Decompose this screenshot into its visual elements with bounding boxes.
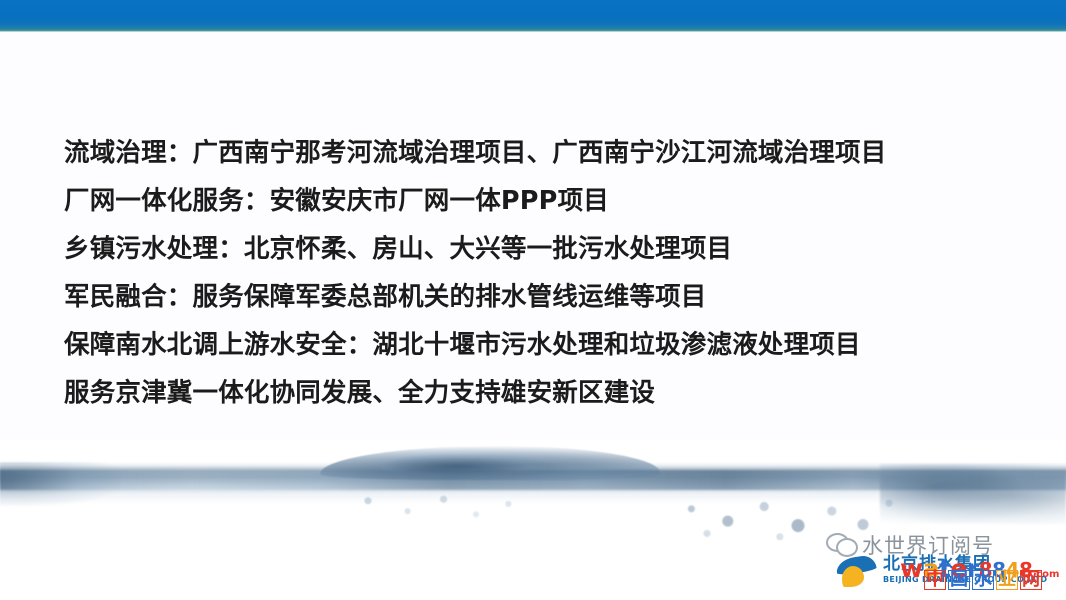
water-spray-right bbox=[880, 464, 1066, 524]
cn-water-char-5: 网 bbox=[1020, 570, 1042, 590]
water8848-letter-w: w bbox=[900, 554, 923, 583]
body-line-4: 军民融合：服务保障军委总部机关的排水管线运维等项目 bbox=[64, 273, 1024, 321]
water-bubbles-left bbox=[350, 492, 530, 532]
body-line-1: 流域治理：广西南宁那考河流域治理项目、广西南宁沙江河流域治理项目 bbox=[64, 129, 1024, 177]
cn-water-char-3: 水 bbox=[972, 570, 994, 590]
body-line-5: 保障南水北调上游水安全：湖北十堰市污水处理和垃圾渗滤液处理项目 bbox=[64, 321, 1024, 369]
cn-water-char-4: 业 bbox=[996, 570, 1018, 590]
body-text-block: 流域治理：广西南宁那考河流域治理项目、广西南宁沙江河流域治理项目 厂网一体化服务… bbox=[64, 129, 1024, 467]
top-blue-band bbox=[0, 0, 1066, 31]
top-band-edge bbox=[0, 29, 1066, 32]
body-line-2: 厂网一体化服务：安徽安庆市厂网一体PPP项目 bbox=[64, 177, 1024, 225]
bdg-swoosh-icon bbox=[836, 553, 878, 587]
cn-water-char-1: 中 bbox=[924, 570, 946, 590]
cn-water-char-2: 国 bbox=[948, 570, 970, 590]
body-line-6: 服务京津冀一体化协同发展、全力支持雄安新区建设 bbox=[64, 369, 1024, 417]
body-line-3: 乡镇污水处理：北京怀柔、房山、大兴等一批污水处理项目 bbox=[64, 225, 1024, 273]
cn-water-net-watermark: 中 国 水 业 网 bbox=[924, 570, 1042, 590]
slide-canvas: 流域治理：广西南宁那考河流域治理项目、广西南宁沙江河流域治理项目 厂网一体化服务… bbox=[0, 0, 1066, 600]
